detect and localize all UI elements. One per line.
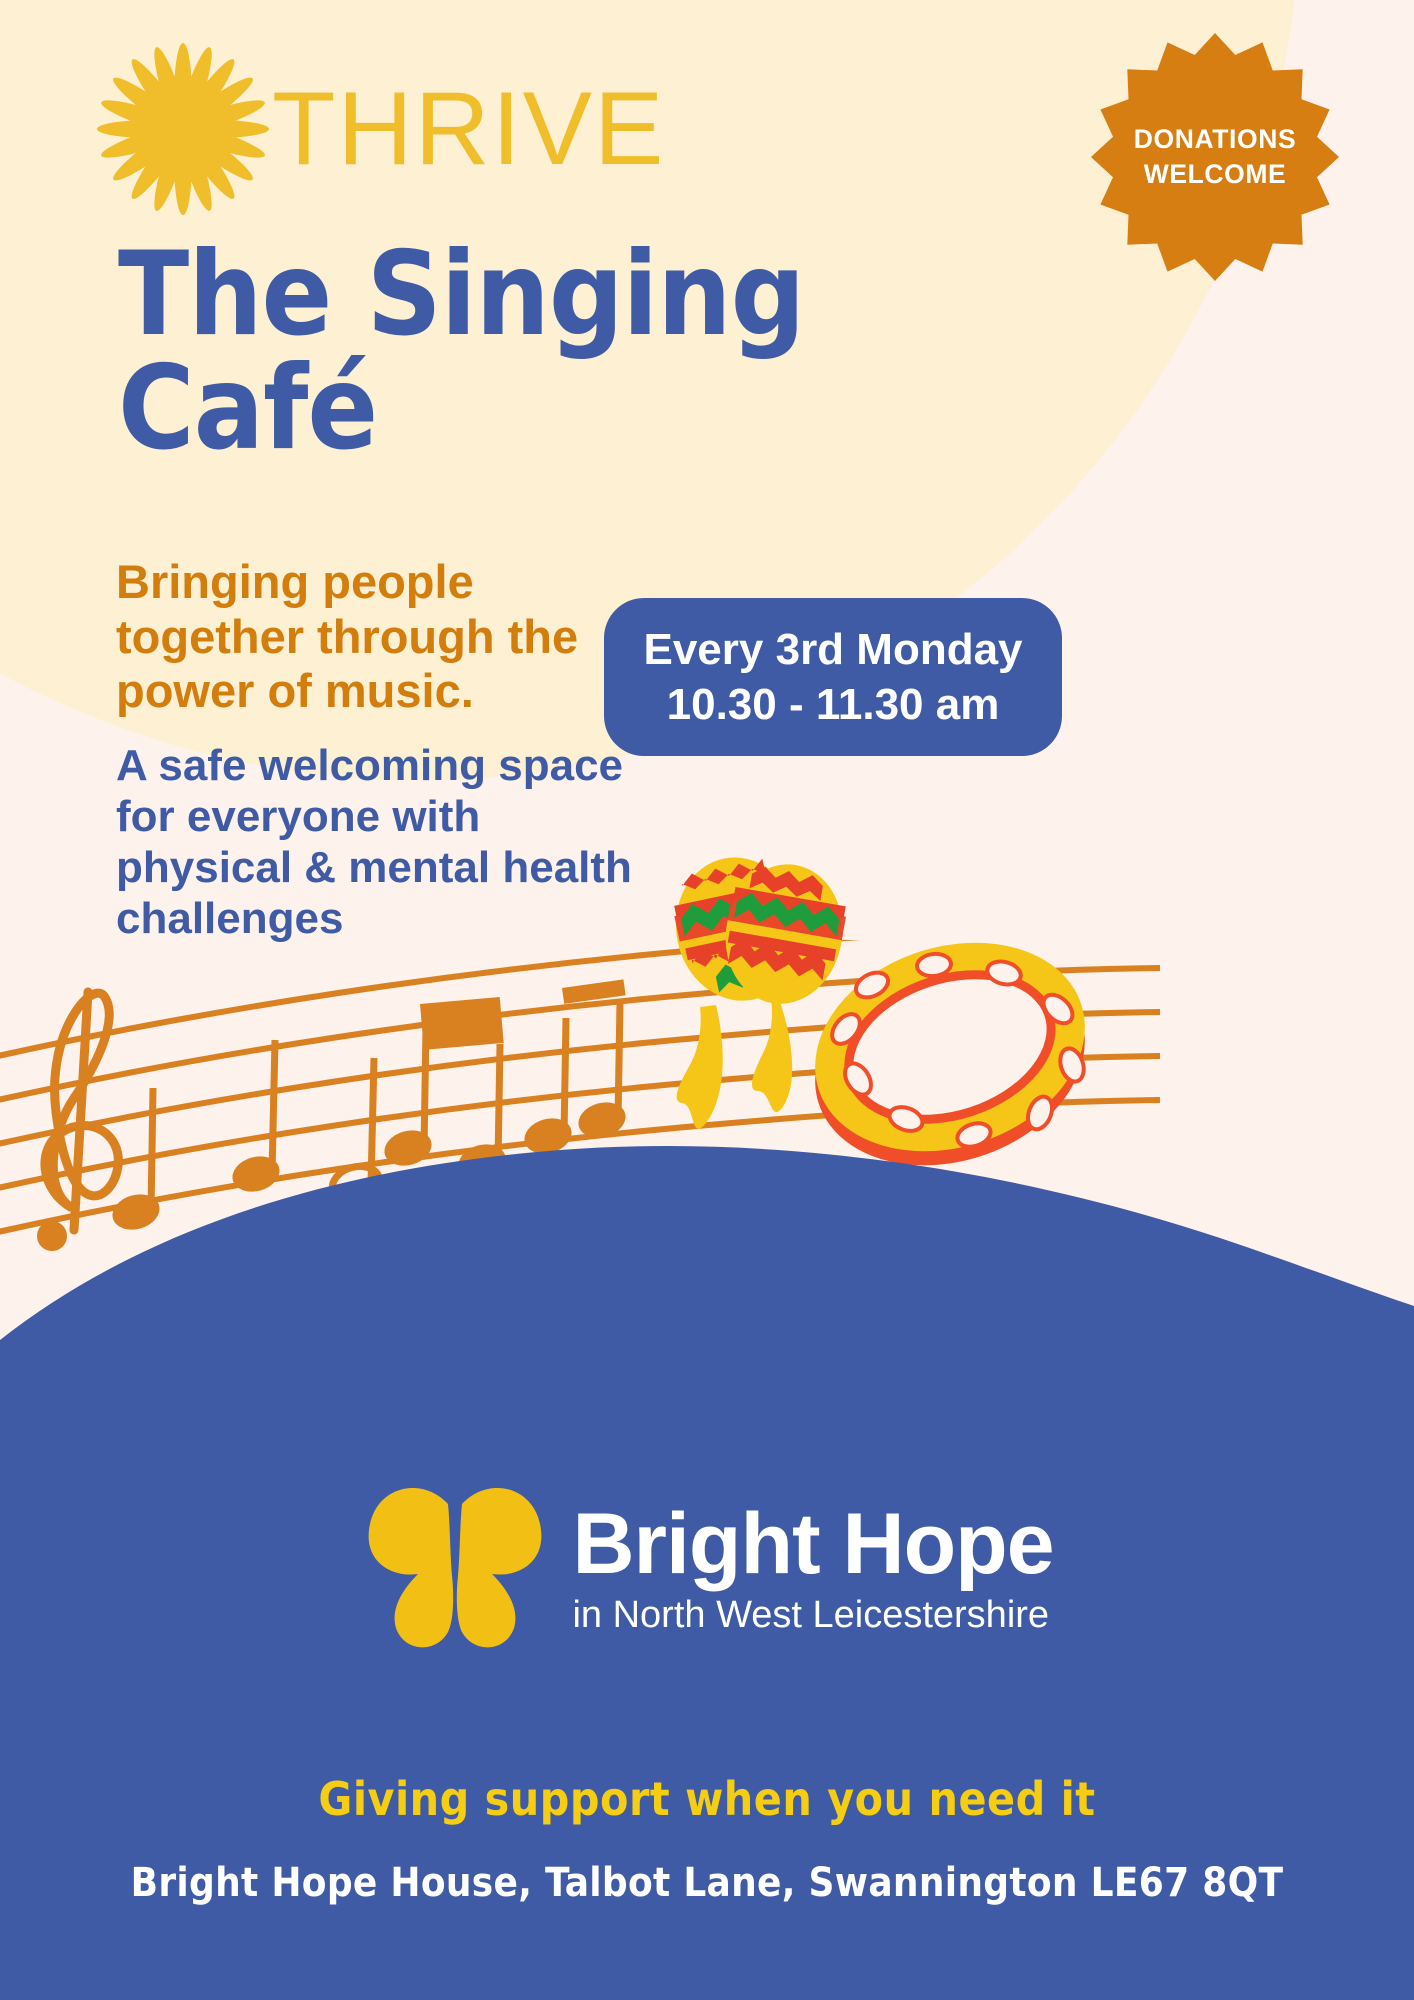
page-title: The Singing Café [118, 238, 938, 465]
schedule-time: 10.30 - 11.30 am [667, 677, 1000, 732]
poster-canvas: THRIVE DONATIONS WELCOME The Singing Caf… [0, 0, 1414, 2000]
thrive-logo: THRIVE [92, 38, 665, 220]
schedule-day: Every 3rd Monday [643, 622, 1022, 677]
org-region: in North West Leicestershire [572, 1593, 1053, 1639]
page-title-line2: Café [118, 352, 938, 466]
bright-hope-wordmark: Bright Hope in North West Leicestershire [572, 1501, 1053, 1639]
org-name: Bright Hope [572, 1501, 1053, 1587]
sunburst-flower-icon [92, 38, 274, 220]
schedule-badge: Every 3rd Monday 10.30 - 11.30 am [604, 598, 1062, 756]
donations-badge-text: DONATIONS WELCOME [1091, 33, 1339, 281]
org-address: Bright Hope House, Talbot Lane, Swanning… [0, 1860, 1414, 1906]
donations-badge-line1: DONATIONS [1134, 122, 1296, 158]
page-title-line1: The Singing [118, 238, 938, 352]
thrive-wordmark: THRIVE [272, 77, 665, 181]
tagline-secondary: A safe welcoming space for everyone with… [116, 740, 636, 944]
donations-badge: DONATIONS WELCOME [1091, 33, 1339, 281]
tagline-primary: Bringing people together through the pow… [116, 555, 636, 719]
donations-badge-line2: WELCOME [1144, 157, 1287, 193]
bright-hope-logo: Bright Hope in North West Leicestershire [0, 1482, 1414, 1657]
org-motto: Giving support when you need it [0, 1772, 1414, 1826]
butterfly-icon [360, 1482, 550, 1657]
